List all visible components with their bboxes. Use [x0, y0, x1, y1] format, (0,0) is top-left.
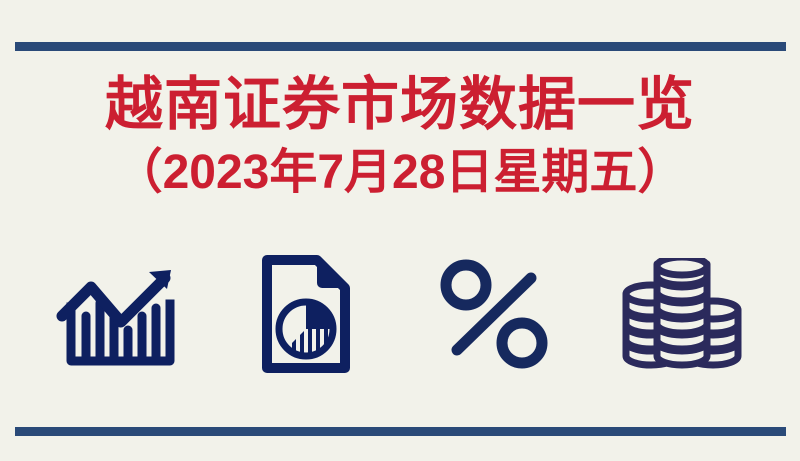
title-block: 越南证券市场数据一览 （2023年7月28日星期五）	[0, 70, 800, 202]
coin-stacks-icon	[617, 249, 747, 379]
growth-bar-chart-arrow-icon	[53, 249, 183, 379]
page-title: 越南证券市场数据一览	[0, 70, 800, 140]
bottom-divider	[15, 427, 786, 436]
poster-canvas: 越南证券市场数据一览 （2023年7月28日星期五）	[0, 0, 800, 461]
document-pie-chart-icon	[241, 249, 371, 379]
icon-row	[0, 246, 800, 382]
top-divider	[15, 42, 786, 51]
percent-icon	[429, 249, 559, 379]
page-subtitle-date: （2023年7月28日星期五）	[0, 144, 800, 202]
